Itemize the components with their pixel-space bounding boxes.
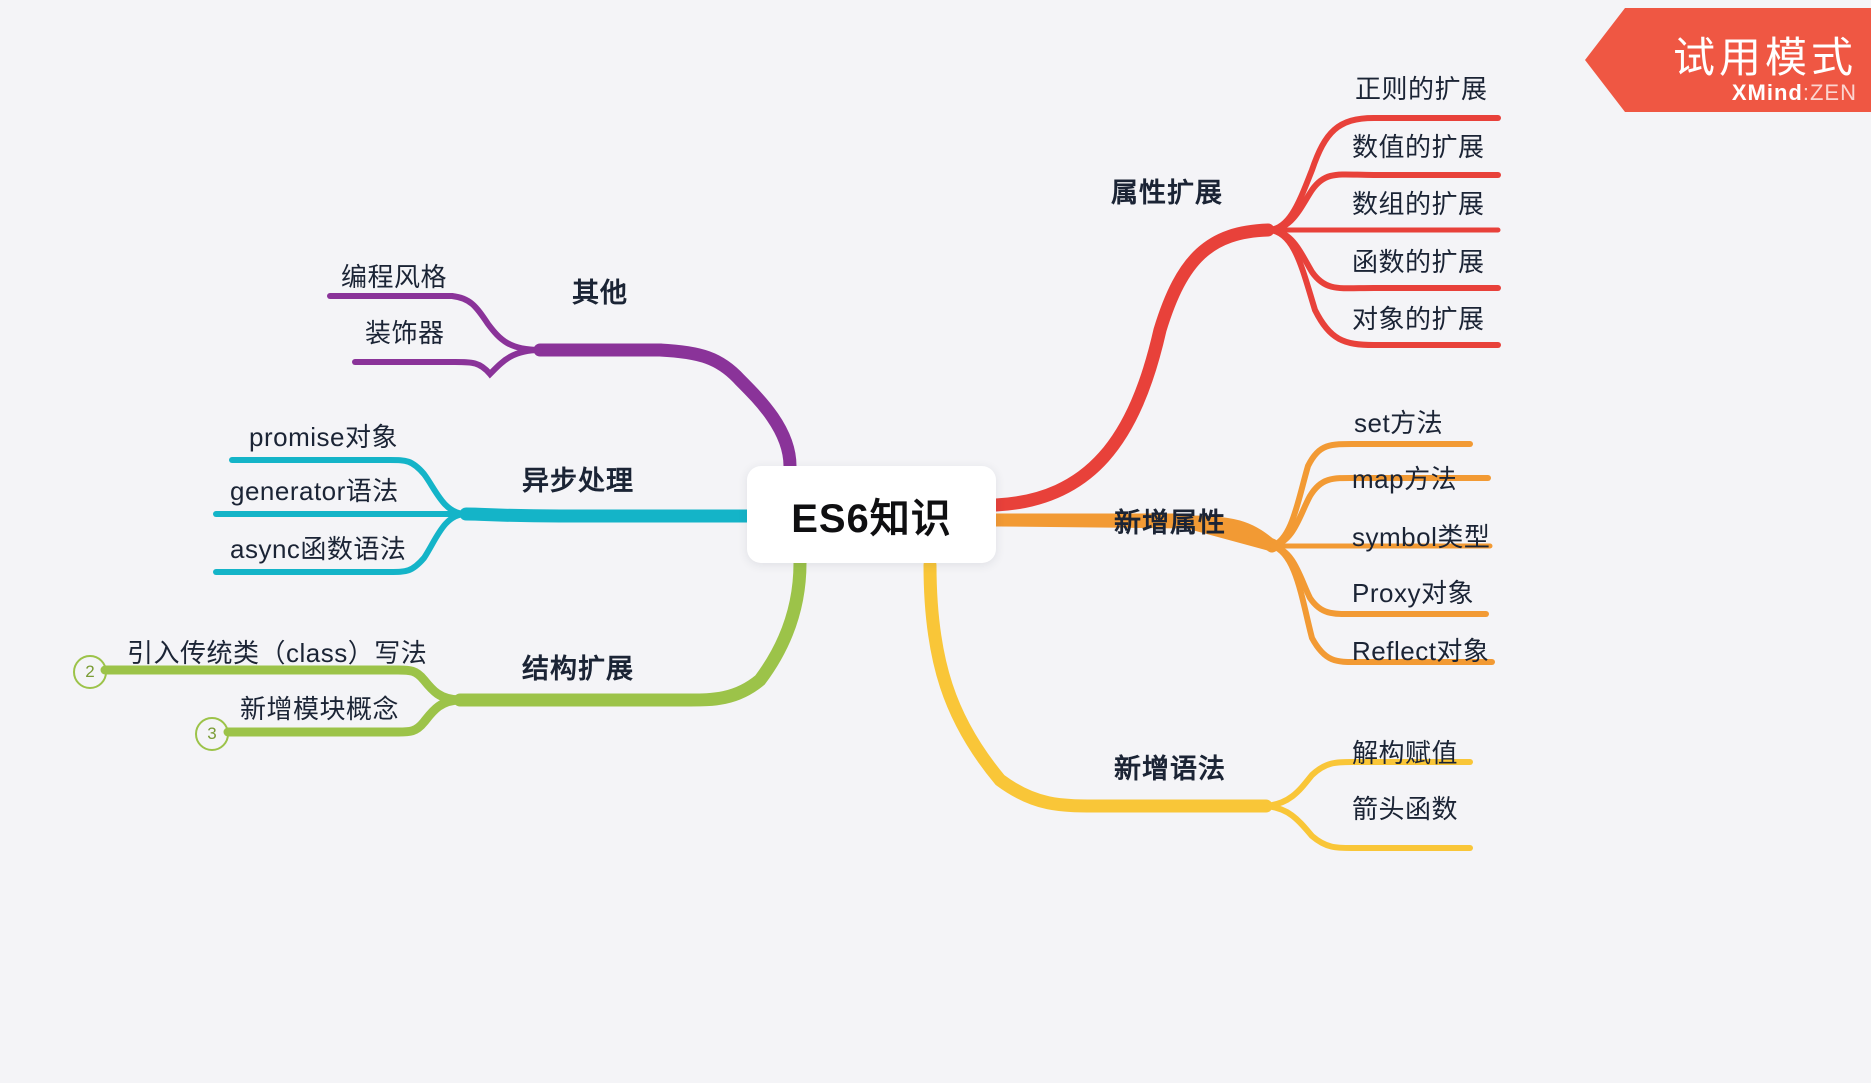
branch-label: 新增语法 (1114, 754, 1226, 784)
leaf-label: Reflect对象 (1352, 636, 1489, 666)
leaf-generator-syntax[interactable]: generator语法 (230, 478, 399, 504)
leaf-label: generator语法 (230, 476, 399, 506)
leaf-label: set方法 (1354, 408, 1443, 438)
leaf-symbol-type[interactable]: symbol类型 (1352, 524, 1490, 550)
leaf-label: 解构赋值 (1352, 738, 1458, 768)
marker-label: 2 (85, 662, 94, 682)
branch-label: 结构扩展 (522, 654, 634, 684)
marker-label: 3 (207, 724, 216, 744)
leaf-label: 箭头函数 (1352, 794, 1458, 824)
trial-mode-banner[interactable]: 试用模式 XMind:ZEN (1585, 8, 1871, 112)
leaf-class-syntax[interactable]: 引入传统类（class）写法 (127, 640, 427, 666)
leaf-label: async函数语法 (230, 534, 406, 564)
branch-structure-extension[interactable]: 结构扩展 (522, 656, 634, 683)
branch-new-attributes[interactable]: 新增属性 (1114, 510, 1226, 537)
central-topic[interactable]: ES6知识 (747, 466, 996, 563)
branch-attribute-extension[interactable]: 属性扩展 (1111, 180, 1223, 207)
leaf-label: 对象的扩展 (1352, 304, 1485, 334)
leaf-decorator[interactable]: 装饰器 (365, 320, 445, 346)
leaf-array-extension[interactable]: 数组的扩展 (1352, 191, 1485, 217)
mindmap-canvas[interactable]: ES6知识 属性扩展 正则的扩展 数值的扩展 数组的扩展 函数的扩展 对象的扩展… (0, 0, 1871, 1083)
leaf-label: 编程风格 (341, 262, 447, 292)
central-topic-label: ES6知识 (791, 486, 952, 544)
app-brand-name: XMind (1732, 80, 1803, 105)
leaf-label: 新增模块概念 (240, 694, 399, 724)
leaf-map-method[interactable]: map方法 (1352, 466, 1457, 492)
leaf-arrow-function[interactable]: 箭头函数 (1352, 796, 1458, 822)
leaf-async-function-syntax[interactable]: async函数语法 (230, 536, 406, 562)
leaf-object-extension[interactable]: 对象的扩展 (1352, 306, 1485, 332)
leaf-function-extension[interactable]: 函数的扩展 (1352, 249, 1485, 275)
branch-label: 其他 (572, 278, 628, 308)
leaf-reflect-object[interactable]: Reflect对象 (1352, 638, 1489, 664)
leaf-label: 引入传统类（class）写法 (127, 638, 427, 668)
branch-label: 新增属性 (1114, 508, 1226, 538)
branch-label: 属性扩展 (1111, 178, 1223, 208)
leaf-label: 数值的扩展 (1352, 132, 1485, 162)
leaf-number-extension[interactable]: 数值的扩展 (1352, 134, 1485, 160)
leaf-module-concept[interactable]: 新增模块概念 (240, 696, 399, 722)
leaf-label: 装饰器 (365, 318, 445, 348)
leaf-label: symbol类型 (1352, 522, 1490, 552)
app-brand-edition: :ZEN (1803, 80, 1857, 105)
branch-async-handling[interactable]: 异步处理 (522, 468, 634, 495)
branch-new-syntax[interactable]: 新增语法 (1114, 756, 1226, 783)
leaf-label: 函数的扩展 (1352, 247, 1485, 277)
leaf-proxy-object[interactable]: Proxy对象 (1352, 580, 1474, 606)
leaf-label: 正则的扩展 (1355, 74, 1488, 104)
leaf-coding-style[interactable]: 编程风格 (341, 264, 447, 290)
leaf-label: promise对象 (249, 422, 398, 452)
app-brand: XMind:ZEN (1732, 80, 1857, 106)
leaf-label: Proxy对象 (1352, 578, 1474, 608)
leaf-promise-object[interactable]: promise对象 (249, 424, 398, 450)
leaf-set-method[interactable]: set方法 (1354, 410, 1443, 436)
trial-mode-label: 试用模式 (1585, 24, 1857, 85)
branch-other[interactable]: 其他 (572, 280, 628, 307)
branch-label: 异步处理 (522, 466, 634, 496)
leaf-destructuring[interactable]: 解构赋值 (1352, 740, 1458, 766)
leaf-label: 数组的扩展 (1352, 189, 1485, 219)
marker-3[interactable]: 3 (195, 717, 229, 751)
leaf-label: map方法 (1352, 464, 1457, 494)
marker-2[interactable]: 2 (73, 655, 107, 689)
leaf-regexp-extension[interactable]: 正则的扩展 (1355, 76, 1488, 102)
